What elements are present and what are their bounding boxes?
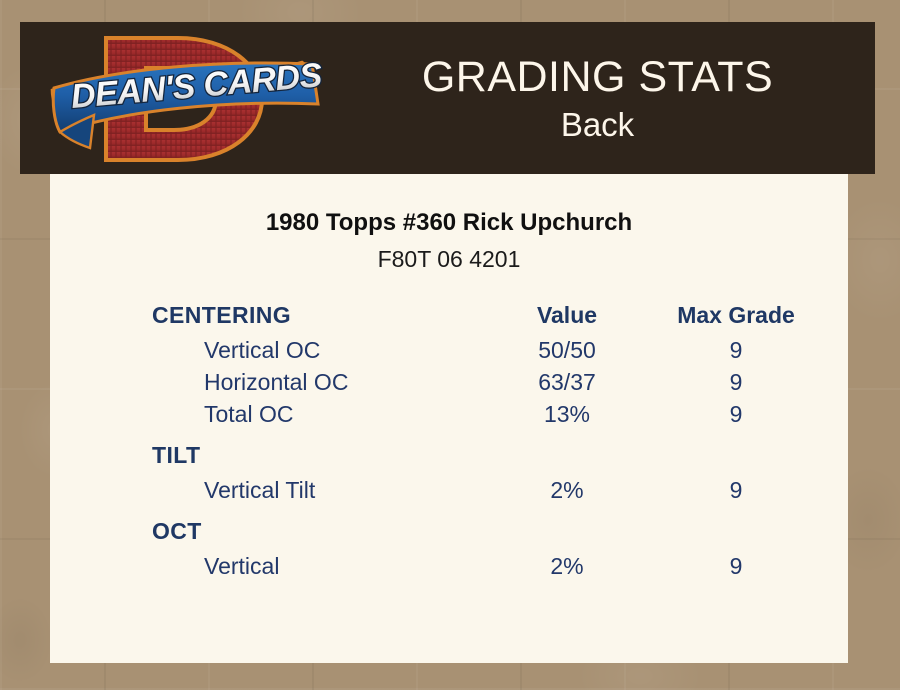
stat-max-grade: 9 [652, 335, 820, 367]
stat-max-grade: 9 [652, 399, 820, 431]
header-title-group: GRADING STATS Back [320, 22, 875, 174]
table-header: CENTERING Value Max Grade [152, 302, 820, 335]
stat-max-grade: 9 [652, 367, 820, 399]
stat-value: 2% [482, 475, 652, 507]
card-serial-number: F80T 06 4201 [50, 246, 848, 273]
stat-label: Vertical [152, 551, 482, 583]
column-header-value: Value [482, 302, 652, 335]
stat-value: 50/50 [482, 335, 652, 367]
grading-stats-section: CENTERING Value Max Grade Vertical OC50/… [50, 302, 848, 583]
section-header-label: OCT [152, 507, 820, 551]
column-header-category: CENTERING [152, 302, 482, 335]
stat-max-grade: 9 [652, 551, 820, 583]
table-row: Vertical OC50/509 [152, 335, 820, 367]
stat-max-grade: 9 [652, 475, 820, 507]
stat-value: 63/37 [482, 367, 652, 399]
deans-cards-logo[interactable]: DEAN'S CARDS [50, 26, 325, 172]
header-band: DEAN'S CARDS GRADING STATS Back [20, 22, 875, 174]
page-title: GRADING STATS [422, 51, 773, 103]
table-row: Vertical2%9 [152, 551, 820, 583]
section-header-row: TILT [152, 431, 820, 475]
stat-label: Horizontal OC [152, 367, 482, 399]
grading-stats-table: CENTERING Value Max Grade Vertical OC50/… [152, 302, 820, 583]
content-panel: 1980 Topps #360 Rick Upchurch F80T 06 42… [50, 174, 848, 663]
stat-value: 2% [482, 551, 652, 583]
stat-label: Vertical OC [152, 335, 482, 367]
stat-label: Total OC [152, 399, 482, 431]
card-title: 1980 Topps #360 Rick Upchurch [50, 209, 848, 237]
table-row: Horizontal OC63/379 [152, 367, 820, 399]
stat-label: Vertical Tilt [152, 475, 482, 507]
stat-value: 13% [482, 399, 652, 431]
section-header-row: OCT [152, 507, 820, 551]
table-row: Total OC13%9 [152, 399, 820, 431]
table-row: Vertical Tilt2%9 [152, 475, 820, 507]
column-header-max-grade: Max Grade [652, 302, 820, 335]
table-body: Vertical OC50/509Horizontal OC63/379Tota… [152, 335, 820, 583]
section-header-label: TILT [152, 431, 820, 475]
page-subtitle: Back [561, 105, 634, 145]
